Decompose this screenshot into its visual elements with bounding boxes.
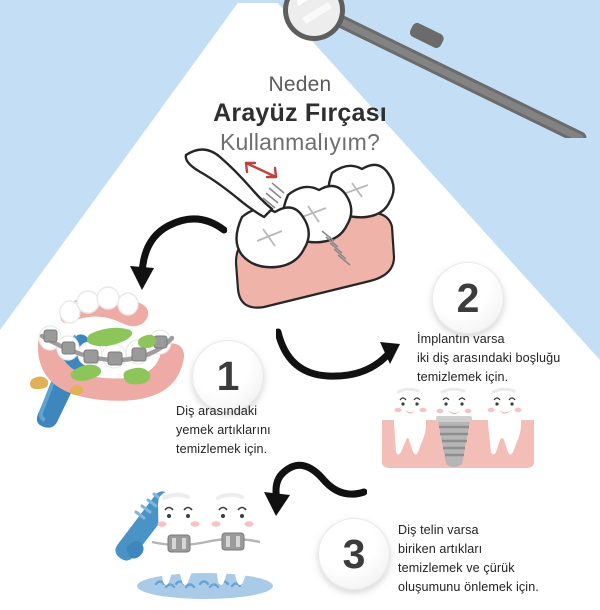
arrow-to-step-1: [112, 212, 227, 312]
arrow-to-step-2: [276, 318, 411, 398]
step-badge-3: 3: [318, 518, 390, 590]
infographic-poster: Neden Arayüz Fırçası Kullanmalıyım? 1 Di…: [0, 0, 600, 610]
step-caption-2: İmplantın varsa iki diş arasındaki boşlu…: [417, 330, 560, 387]
title-line-3: Kullanmalıyım?: [0, 128, 600, 156]
title-line-1: Neden: [0, 72, 600, 98]
step-caption-1: Diş arasındaki yemek artıklarını temizle…: [176, 402, 271, 459]
step-caption-3: Diş telin varsa biriken artıkları temizl…: [398, 521, 539, 597]
page-title: Neden Arayüz Fırçası Kullanmalıyım?: [0, 72, 600, 156]
title-line-2: Arayüz Fırçası: [0, 98, 600, 129]
step-badge-2: 2: [432, 262, 504, 334]
